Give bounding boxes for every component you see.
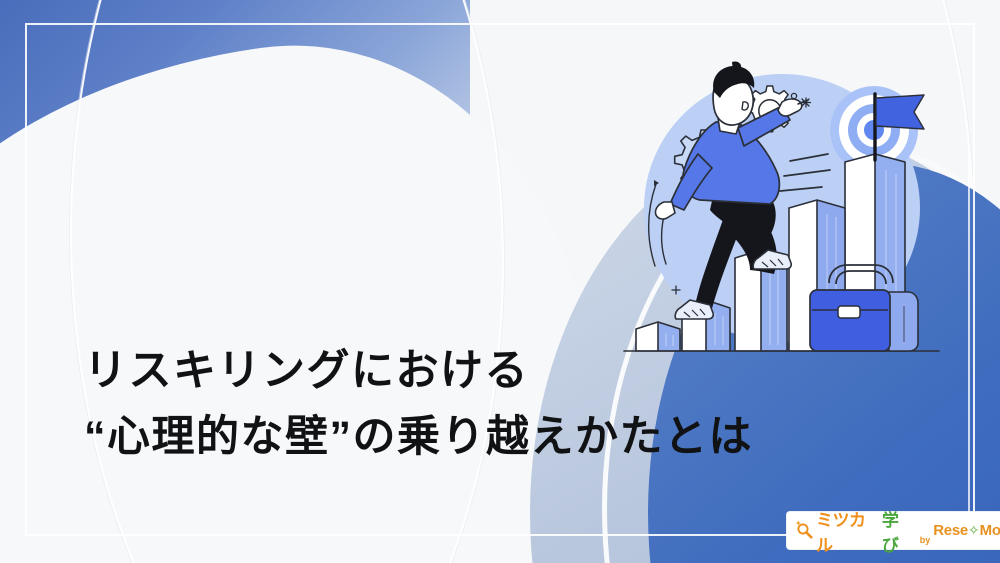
page-title-line-2: “心理的な壁”の乗り越えかたとは <box>84 404 753 470</box>
page-title-line-1: リスキリングにおける <box>84 338 753 404</box>
slide-canvas: リスキリングにおける “心理的な壁”の乗り越えかたとは ✦ ミツカル 学び by… <box>0 0 1000 563</box>
brand-name-katakana: ミツカル <box>816 506 878 556</box>
brand-name-kanji: 学び <box>882 506 913 556</box>
parent-brand-part-1: Rese <box>933 522 968 539</box>
sparkle-icon: ✦ <box>795 520 802 528</box>
brand-by-label: by <box>920 535 931 549</box>
illustration-person-climbing-bar-chart <box>614 58 944 378</box>
magnifying-glass-icon: ✦ <box>796 522 813 539</box>
page-title: リスキリングにおける “心理的な壁”の乗り越えかたとは <box>84 338 753 470</box>
leaf-icon: ✧ <box>968 522 980 539</box>
brand-logo-badge[interactable]: ✦ ミツカル 学び by Rese ✧ Mom TM <box>787 512 1000 549</box>
parent-brand-part-2: Mom <box>980 522 1000 539</box>
background-hairline <box>968 150 970 520</box>
